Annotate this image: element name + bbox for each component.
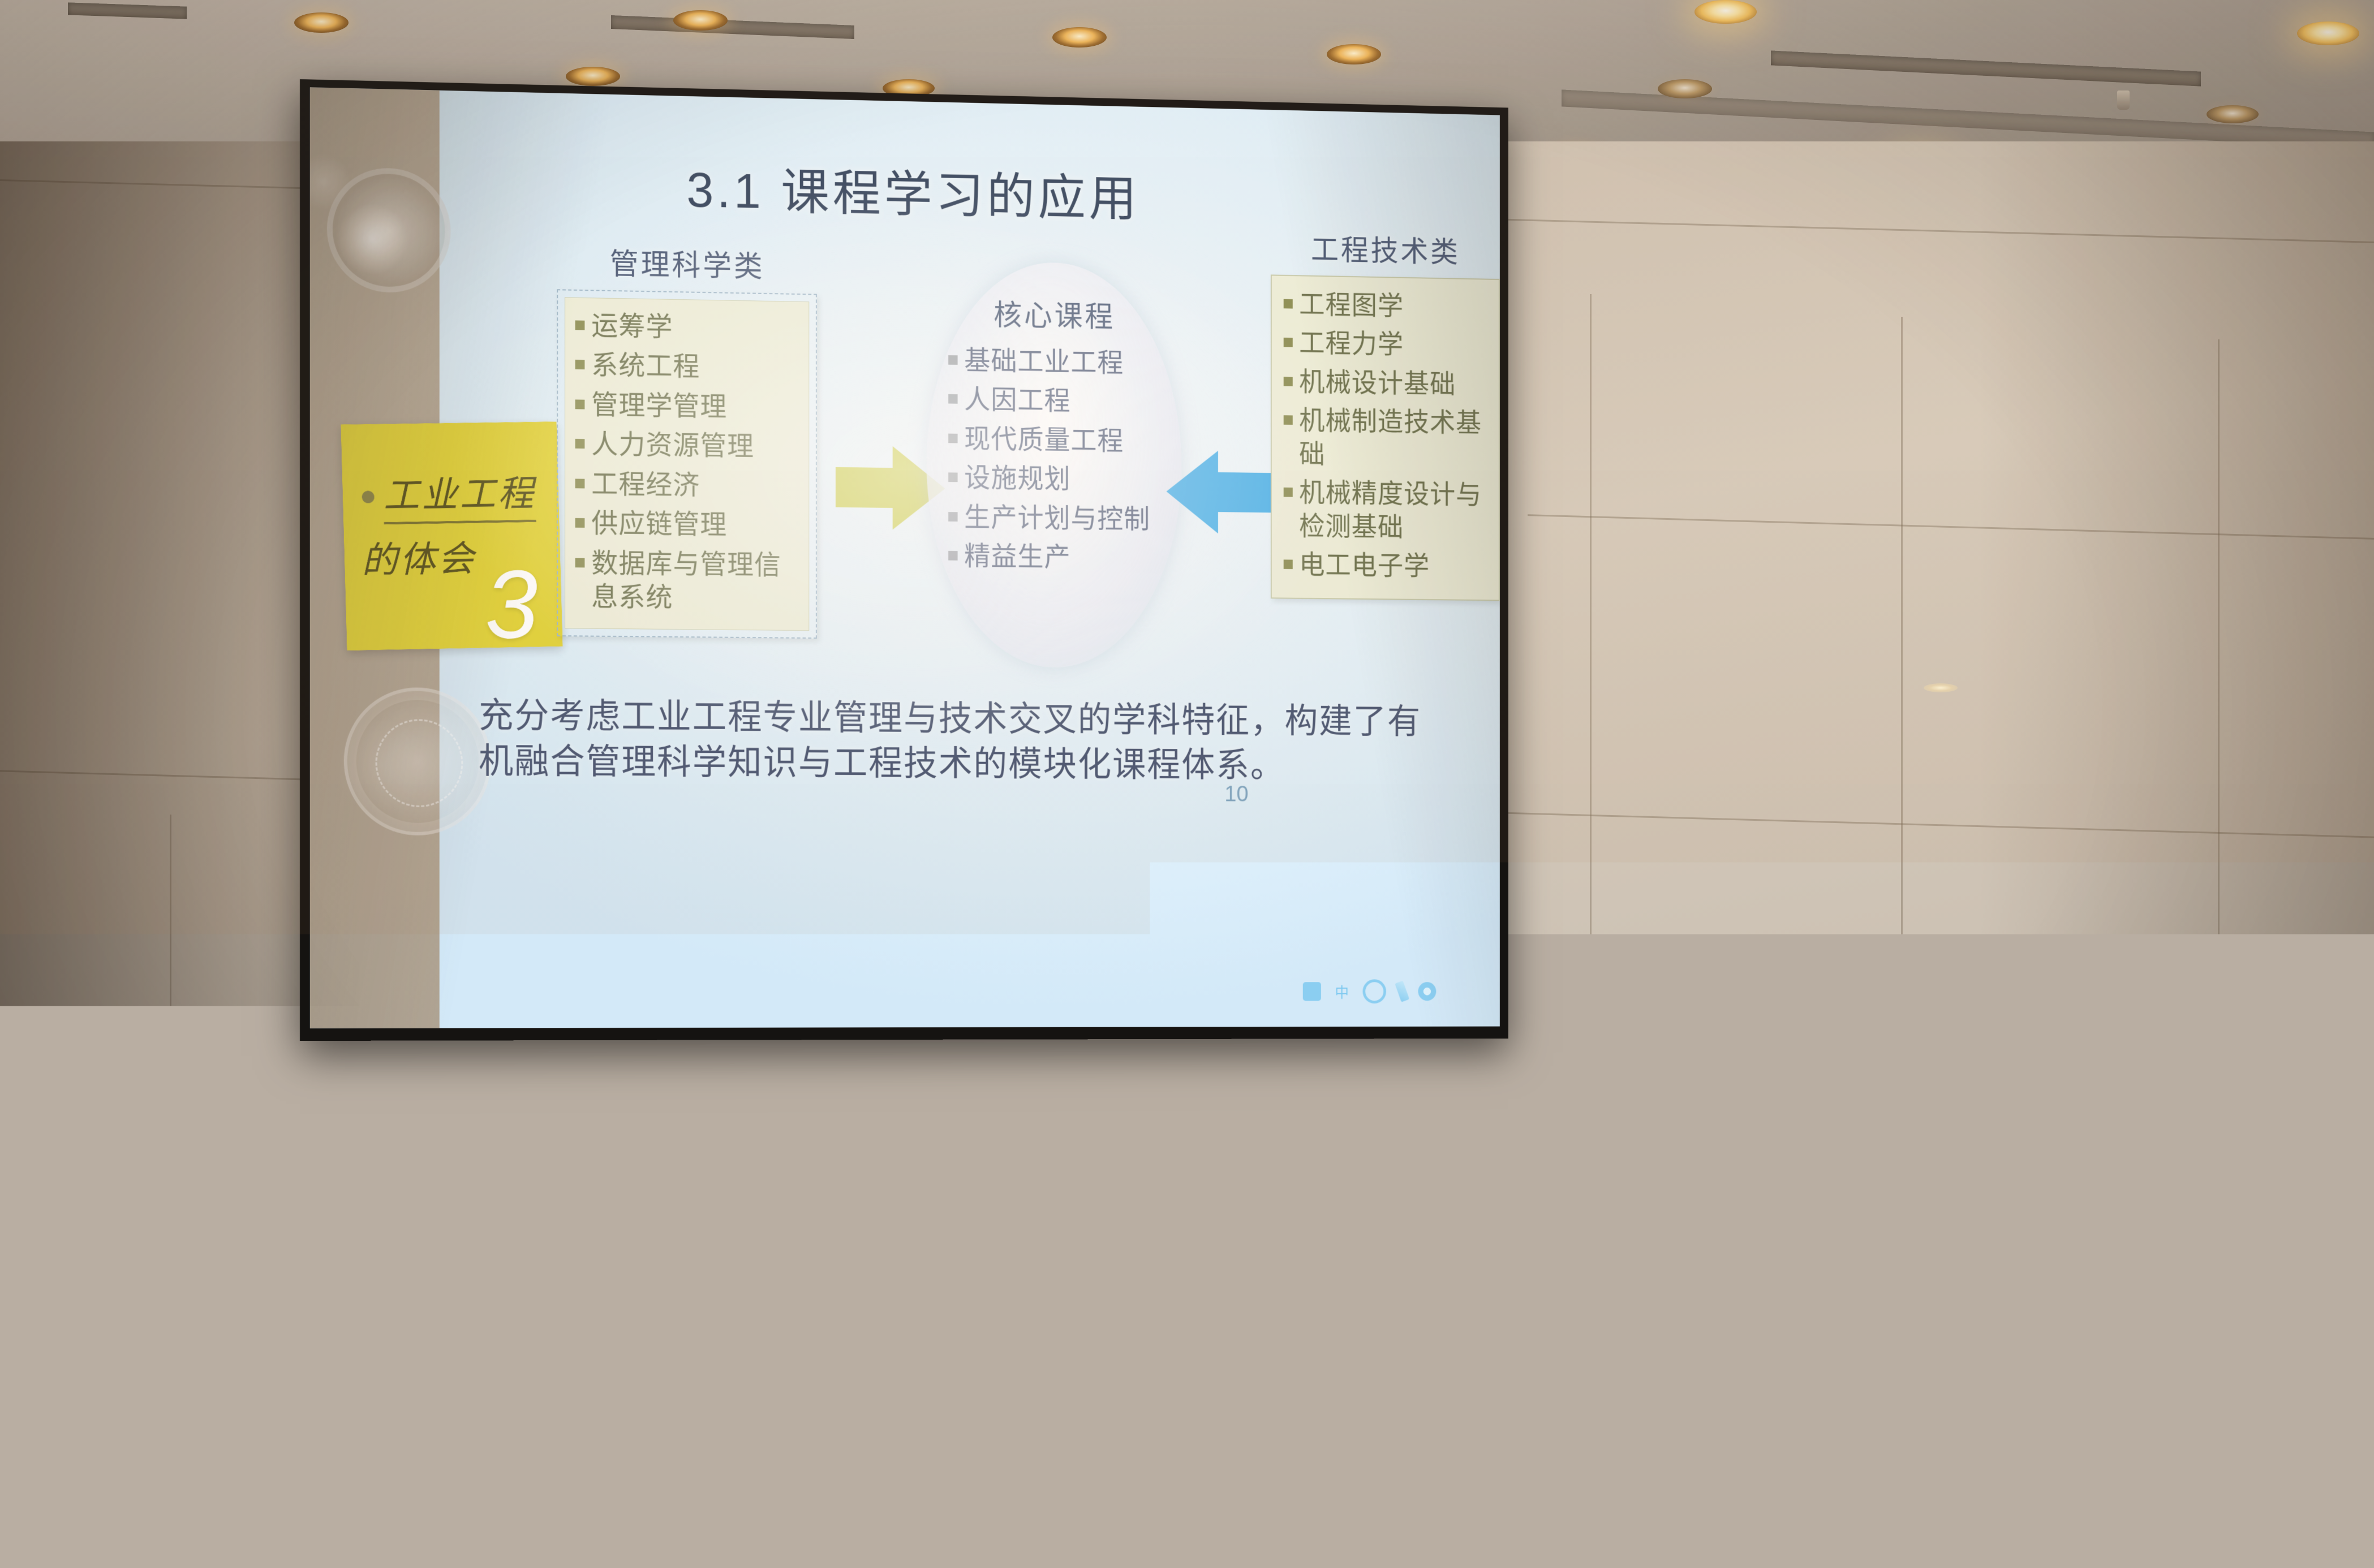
downlight-5 [566,67,620,86]
left-column: 管理科学类 运筹学 系统工程 管理学管理 人力资源管理 工程经济 供应链管理 数… [557,239,817,639]
list-item-label: 生产计划与控制 [964,501,1171,537]
list-item-label: 系统工程 [591,349,801,386]
tag-bullet-icon [362,491,374,503]
bullet-square-icon [575,360,585,369]
left-column-heading: 管理科学类 [557,239,817,286]
list-item-label: 电工电子学 [1299,549,1489,584]
wall-seam-vertical-3 [1590,294,1592,1233]
downlight-3 [1052,27,1107,48]
list-item: 现代质量工程 [948,423,1171,459]
glasses-icon [1078,1234,1150,1251]
list-item: 设施规划 [948,462,1171,498]
wall-seam-vertical-1 [1901,317,1903,1233]
presenter-mouth [1102,1271,1126,1279]
list-item: 电工电子学 [1284,549,1489,584]
downlight-12 [2207,105,2259,123]
list-item: 机械精度设计与检测基础 [1284,477,1489,546]
dais-panel-seam [441,1362,444,1568]
bullet-square-icon [1284,560,1293,570]
list-item: 系统工程 [575,349,801,386]
downlight-8 [2297,21,2359,45]
bullet-square-icon [575,399,585,409]
bullet-square-icon [948,355,957,365]
list-item-label: 设施规划 [964,462,1171,498]
list-item-label: 精益生产 [964,540,1171,576]
list-item: 机械制造技术基础 [1284,404,1489,474]
list-item: 工程力学 [1284,327,1489,364]
list-item-label: 工程力学 [1299,327,1489,363]
bullet-square-icon [1284,377,1293,386]
gear-icon[interactable] [1418,982,1436,1001]
ime-language-bar[interactable]: 中 [1303,979,1437,1003]
chair-arm [218,1278,228,1312]
glasses-lens-left [1078,1234,1113,1256]
chair-arm [775,1282,785,1316]
bullet-square-icon [1284,488,1293,497]
list-item-label: 机械制造技术基础 [1299,405,1489,474]
center-item-list: 基础工业工程 人因工程 现代质量工程 设施规划 生产计划与控制 精益生产 [948,344,1171,581]
bullet-square-icon [575,439,585,449]
list-item-label: 机械设计基础 [1299,366,1489,402]
center-heading: 核心课程 [927,290,1182,336]
mic-head-icon [801,1216,813,1246]
pen-icon[interactable] [1395,981,1409,1002]
list-item-label: 机械精度设计与检测基础 [1299,477,1489,546]
projection-screen-surface: 3.1 课程学习的应用 工业工程 的体会 3 管理科学类 运筹学 系统 [310,87,1500,1028]
bullet-square-icon [1284,338,1293,347]
bullet-square-icon [948,512,957,522]
glasses-lens-right [1115,1234,1150,1256]
arrow-right-to-center-icon [1167,450,1274,535]
chinese-mode-icon[interactable]: 中 [1333,982,1351,1001]
left-column-outer-box: 运筹学 系统工程 管理学管理 人力资源管理 工程经济 供应链管理 数据库与管理信… [557,289,817,639]
slide-diagram: 管理科学类 运筹学 系统工程 管理学管理 人力资源管理 工程经济 供应链管理 数… [440,220,1500,1028]
list-item-label: 管理学管理 [591,389,801,425]
laptop-sticker [1124,1298,1190,1324]
bullet-square-icon [575,558,585,567]
keyboard-icon[interactable] [1303,982,1321,1001]
mic-head-icon [2246,1240,2259,1269]
list-item-label: 人因工程 [964,384,1171,420]
downlight-7 [1695,0,1757,24]
conference-hall-scene: 3.1 课程学习的应用 工业工程 的体会 3 管理科学类 运筹学 系统 [0,0,2374,1568]
dais-panel-seam [1047,1362,1049,1568]
microphone [560,1191,573,1349]
list-item: 供应链管理 [575,507,801,544]
list-item-label: 人力资源管理 [591,428,801,465]
bullet-square-icon [575,479,585,488]
mic-head-icon [1231,1250,1243,1280]
circle-icon[interactable] [1363,979,1386,1003]
list-item: 基础工业工程 [948,344,1171,381]
dais-front-panel [0,1362,2374,1568]
list-item: 人力资源管理 [575,428,801,464]
list-item: 运筹学 [575,309,801,347]
downlight-1 [294,12,349,33]
center-oval: 核心课程 基础工业工程 人因工程 现代质量工程 设施规划 生产计划与控制 精益生… [927,260,1182,668]
right-column: 工程技术类 工程图学 工程力学 机械设计基础 机械制造技术基础 机械精度设计与检… [1271,226,1500,601]
bullet-square-icon [948,394,957,404]
bullet-square-icon [575,518,585,528]
list-item: 数据库与管理信息系统 [575,546,801,617]
dais-panel-seam [1641,1362,1643,1568]
mic-head-icon [560,1191,573,1221]
list-item: 生产计划与控制 [948,501,1171,537]
bullet-square-icon [948,473,957,483]
left-column-box: 运筹学 系统工程 管理学管理 人力资源管理 工程经济 供应链管理 数据库与管理信… [565,297,809,631]
wall-seam-vertical-5 [611,1075,613,1233]
wall-glint [1924,683,1958,692]
list-item-label: 工程图学 [1299,288,1489,325]
list-item-label: 数据库与管理信息系统 [591,547,801,617]
bullet-square-icon [1284,299,1293,309]
sprinkler-head [2117,91,2130,110]
bullet-square-icon [1284,416,1293,425]
downlight-2 [673,10,728,31]
chair-arm [2260,1286,2270,1320]
chair-arm [1960,1285,1971,1319]
right-column-heading: 工程技术类 [1271,226,1500,272]
list-item-label: 供应链管理 [591,507,801,544]
downlight-9 [1658,79,1712,98]
list-item: 机械设计基础 [1284,365,1489,402]
list-item-label: 工程经济 [591,468,801,505]
wall-shadow-right [1978,141,2374,1341]
list-item: 工程图学 [1284,288,1489,325]
mic-head-icon [1539,1215,1551,1244]
bullet-square-icon [575,320,585,330]
mic-head-icon [1678,1234,1690,1264]
bullet-square-icon [948,551,957,561]
list-item-label: 现代质量工程 [964,423,1171,459]
list-item-label: 基础工业工程 [964,344,1171,381]
projection-screen-frame: 3.1 课程学习的应用 工业工程 的体会 3 管理科学类 运筹学 系统 [300,79,1508,1041]
mic-head-icon [354,1195,366,1224]
list-item: 管理学管理 [575,388,801,425]
list-item: 精益生产 [948,540,1171,576]
list-item: 工程经济 [575,467,801,504]
list-item: 人因工程 [948,384,1171,420]
microphone [354,1195,366,1347]
bullet-square-icon [948,433,957,443]
presentation-slide: 3.1 课程学习的应用 工业工程 的体会 3 管理科学类 运筹学 系统 [310,87,1500,1028]
list-item-label: 运筹学 [591,309,801,347]
downlight-4 [1327,44,1381,64]
right-column-box: 工程图学 工程力学 机械设计基础 机械制造技术基础 机械精度设计与检测基础 电工… [1271,274,1500,601]
slide-paragraph: 充分考虑工业工程专业管理与技术交叉的学科特征，构建了有机融合管理科学知识与工程技… [479,693,1442,789]
